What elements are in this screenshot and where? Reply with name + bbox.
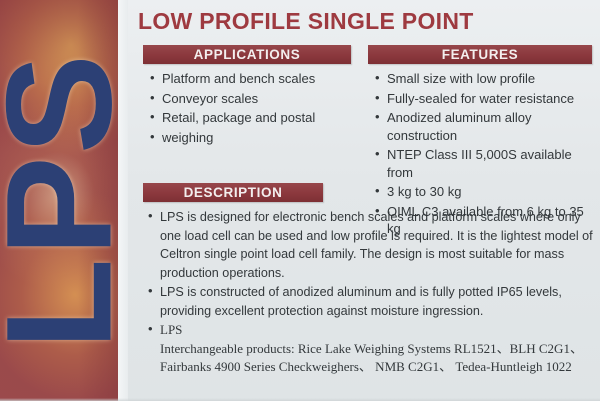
- list-item: Conveyor scales: [150, 90, 355, 108]
- list-item: Fully-sealed for water resistance: [375, 90, 600, 108]
- list-item: Retail, package and postal: [150, 109, 355, 127]
- brand-vertical-label: LPS: [0, 52, 118, 350]
- list-item: Anodized aluminum alloy construction: [375, 109, 600, 144]
- list-item: Small size with low profile: [375, 70, 600, 88]
- list-item-continuation: 3 kg to 30 kg: [375, 183, 600, 201]
- applications-list: Platform and bench scales Conveyor scale…: [150, 70, 355, 148]
- list-item: NTEP Class III 5,000S available from: [375, 146, 600, 181]
- datasheet-page: LPS LOW PROFILE SINGLE POINT APPLICATION…: [0, 0, 600, 401]
- list-item: LPS is designed for electronic bench sca…: [148, 208, 598, 282]
- interchangeable-line-2: Fairbanks 4900 Series Checkweighers、 NMB…: [160, 358, 598, 376]
- description-list: LPS is designed for electronic bench sca…: [148, 208, 598, 377]
- section-header-description: DESCRIPTION: [143, 183, 323, 202]
- page-title: LOW PROFILE SINGLE POINT: [138, 8, 474, 35]
- section-header-features: FEATURES: [368, 45, 592, 64]
- panel-divider: [118, 0, 128, 401]
- brand-panel: LPS: [0, 0, 118, 401]
- list-item-label: LPS: [160, 322, 182, 337]
- list-item: LPS Interchangeable products: Rice Lake …: [148, 321, 598, 376]
- interchangeable-line-1: Interchangeable products: Rice Lake Weig…: [160, 340, 598, 358]
- list-item: Platform and bench scales: [150, 70, 355, 88]
- section-header-applications: APPLICATIONS: [143, 45, 351, 64]
- content-area: LOW PROFILE SINGLE POINT APPLICATIONS Pl…: [128, 0, 600, 401]
- list-item: LPS is constructed of anodized aluminum …: [148, 283, 598, 320]
- list-item-continuation: weighing: [150, 129, 355, 147]
